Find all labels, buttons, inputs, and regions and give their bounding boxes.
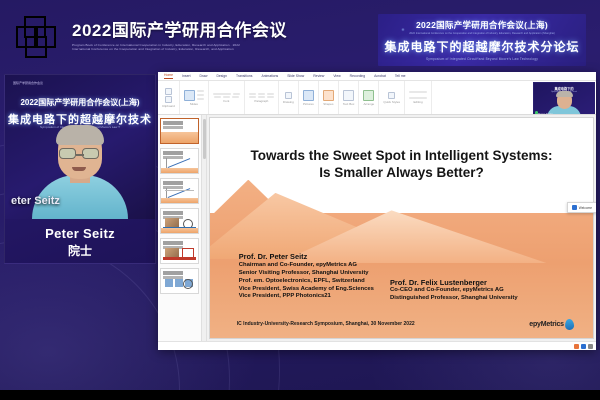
ribbon-tab-insert[interactable]: Insert: [182, 74, 190, 78]
slide-title-line1: Towards the Sweet Spot in Intelligent Sy…: [241, 147, 563, 165]
camera-name: Peter Seitz: [538, 112, 553, 115]
slide-thumbnail[interactable]: [160, 178, 199, 204]
ribbon-tab-slide-show[interactable]: Slide Show: [287, 74, 304, 78]
author-affiliation: Vice President, PPP Photonics21: [239, 293, 374, 301]
author-name: Prof. Dr. Peter Seitz: [239, 252, 374, 262]
ribbon-group-label: Shapes: [323, 102, 333, 106]
notes-icon[interactable]: [574, 344, 579, 349]
water-drop-icon: [564, 319, 574, 331]
ribbon-tab-home[interactable]: Home: [164, 73, 173, 79]
view-icon[interactable]: [581, 344, 586, 349]
author-affiliation: Prof. em. Optoelectronics, EPFL, Switzer…: [239, 278, 374, 286]
ribbon-group-label: Clipboard: [162, 104, 175, 108]
thumbnail-scrollbar[interactable]: [202, 115, 207, 341]
author-block-right: Prof. Dr. Felix Lustenberger Co-CEO and …: [390, 278, 518, 303]
video-feed[interactable]: 国际产学研用合作会议 2022国际产学研用合作会议(上海) 集成电路下的超越摩尔…: [5, 75, 155, 219]
slide-footer: IC Industry-University-Research Symposiu…: [237, 321, 415, 327]
ribbon-group-label: Editing: [413, 100, 422, 104]
ribbon-group-font[interactable]: Font: [209, 81, 245, 114]
video-overlay-corner: 国际产学研用合作会议: [13, 81, 43, 85]
slide-title: Towards the Sweet Spot in Intelligent Sy…: [241, 147, 563, 183]
notification-label: Welcome: [579, 206, 592, 210]
presenter-title: 院士: [68, 242, 92, 259]
ribbon-tab-acrobat[interactable]: Acrobat: [374, 74, 386, 78]
ribbon-group-paragraph[interactable]: Paragraph: [245, 81, 279, 114]
ribbon-tab-design[interactable]: Design: [216, 74, 227, 78]
author-block-left: Prof. Dr. Peter Seitz Chairman and Co-Fo…: [239, 252, 374, 301]
ribbon-group-label: Arrange: [364, 102, 375, 106]
slide-thumbnail[interactable]: [160, 208, 199, 234]
ribbon-tab-transitions[interactable]: Transitions: [236, 74, 252, 78]
bottom-letterbox: [0, 390, 600, 400]
ribbon-group-label: Drawing: [283, 100, 294, 104]
video-caption: Peter Seitz 院士: [5, 219, 155, 264]
slide-thumbnail[interactable]: [160, 238, 199, 264]
forum-banner: 2022国际产学研用合作会议(上海) 2022 International Co…: [378, 14, 586, 66]
slide-thumbnail[interactable]: [160, 148, 199, 174]
ribbon-tab-bar[interactable]: HomeInsertDrawDesignTransitionsAnimation…: [158, 72, 596, 81]
powerpoint-camera-thumbnail[interactable]: 集成电路下的 Symposium of Integrated Circuit P…: [533, 82, 595, 115]
ribbon-tab-draw[interactable]: Draw: [200, 74, 208, 78]
video-overlay-line1: 2022国际产学研用合作会议(上海): [5, 97, 155, 108]
powerpoint-window[interactable]: HomeInsertDrawDesignTransitionsAnimation…: [158, 72, 596, 350]
notification-toast[interactable]: Welcome: [567, 202, 596, 213]
video-name-tag: eter Seitz: [11, 195, 60, 207]
ribbon-toolbar[interactable]: Clipboard Slides Font Paragraph Drawin: [158, 81, 596, 115]
ribbon-tab-recording[interactable]: Recording: [350, 74, 365, 78]
banner-line1-en: 2022 International Conference on the Coo…: [409, 32, 555, 35]
presenter-name: Peter Seitz: [45, 226, 115, 241]
slide-thumbnail[interactable]: [160, 268, 199, 294]
conference-brand: 2022国际产学研用合作会议 Program Book of Conferenc…: [14, 14, 287, 60]
epymetrics-logo-text: epyMetrics: [529, 321, 564, 328]
author-name: Prof. Dr. Felix Lustenberger: [390, 278, 518, 288]
ribbon-group-label: Font: [223, 99, 229, 103]
banner-line2: 集成电路下的超越摩尔技术分论坛: [384, 38, 579, 55]
ribbon-group-clipboard[interactable]: Clipboard: [158, 81, 180, 114]
ribbon-tab-tell-me[interactable]: Tell me: [395, 74, 406, 78]
zoom-icon[interactable]: [588, 344, 593, 349]
slide-canvas-area[interactable]: Towards the Sweet Spot in Intelligent Sy…: [207, 115, 596, 341]
screen-capture: 2022国际产学研用合作会议 Program Book of Conferenc…: [0, 0, 600, 400]
slide-title-line2: Is Smaller Always Better?: [241, 164, 563, 182]
current-slide[interactable]: Towards the Sweet Spot in Intelligent Sy…: [210, 118, 593, 338]
ribbon-tab-view[interactable]: View: [333, 74, 340, 78]
ribbon-group-textbox[interactable]: Text Box: [339, 81, 360, 114]
ribbon-group-slides[interactable]: Slides: [180, 81, 209, 114]
ribbon-group-quick-styles[interactable]: Quick Styles: [379, 81, 405, 114]
epymetrics-logo: epyMetrics: [529, 319, 574, 330]
ribbon-group-drawing[interactable]: Drawing: [279, 81, 299, 114]
ribbon-group-pictures[interactable]: Pictures: [299, 81, 319, 114]
ribbon-group-shapes[interactable]: Shapes: [319, 81, 339, 114]
author-affiliation: Distinguished Professor, Shanghai Univer…: [390, 295, 518, 303]
slide-thumbnail[interactable]: [160, 118, 199, 144]
ribbon-group-label: Text Box: [343, 102, 355, 106]
presenter-video-panel[interactable]: 国际产学研用合作会议 2022国际产学研用合作会议(上海) 集成电路下的超越摩尔…: [4, 74, 156, 264]
author-affiliation: Senior Visiting Professor, Shanghai Univ…: [239, 270, 374, 278]
powerpoint-status-bar[interactable]: [158, 341, 596, 350]
ribbon-tab-animations[interactable]: Animations: [261, 74, 278, 78]
ribbon-group-label: Slides: [190, 102, 198, 106]
notification-icon: [572, 205, 577, 210]
overlapping-squares-logo-icon: [14, 14, 62, 60]
ribbon-group-label: Paragraph: [254, 99, 268, 103]
author-affiliation: Vice President, Swiss Academy of Eng.Sci…: [239, 286, 374, 294]
ribbon-group-arrange[interactable]: Arrange: [359, 81, 379, 114]
banner-line1: 2022国际产学研用合作会议(上海): [416, 19, 548, 31]
conference-title-zh: 2022国际产学研用合作会议: [72, 22, 287, 41]
ribbon-group-editing[interactable]: Editing: [405, 81, 432, 114]
author-affiliation: Chairman and Co-Founder, epyMetrics AG: [239, 262, 374, 270]
ribbon-tab-review[interactable]: Review: [313, 74, 324, 78]
slide-thumbnail-panel[interactable]: [158, 115, 202, 341]
ribbon-group-label: Pictures: [303, 102, 314, 106]
author-affiliation: Co-CEO and Co-Founder, epyMetrics AG: [390, 287, 518, 295]
conference-title-en: Program Book of Conference on Internatio…: [72, 43, 257, 52]
ribbon-group-label: Quick Styles: [383, 100, 400, 104]
banner-line2-en: Symposium of Integrated Circuit and Beyo…: [426, 57, 538, 61]
